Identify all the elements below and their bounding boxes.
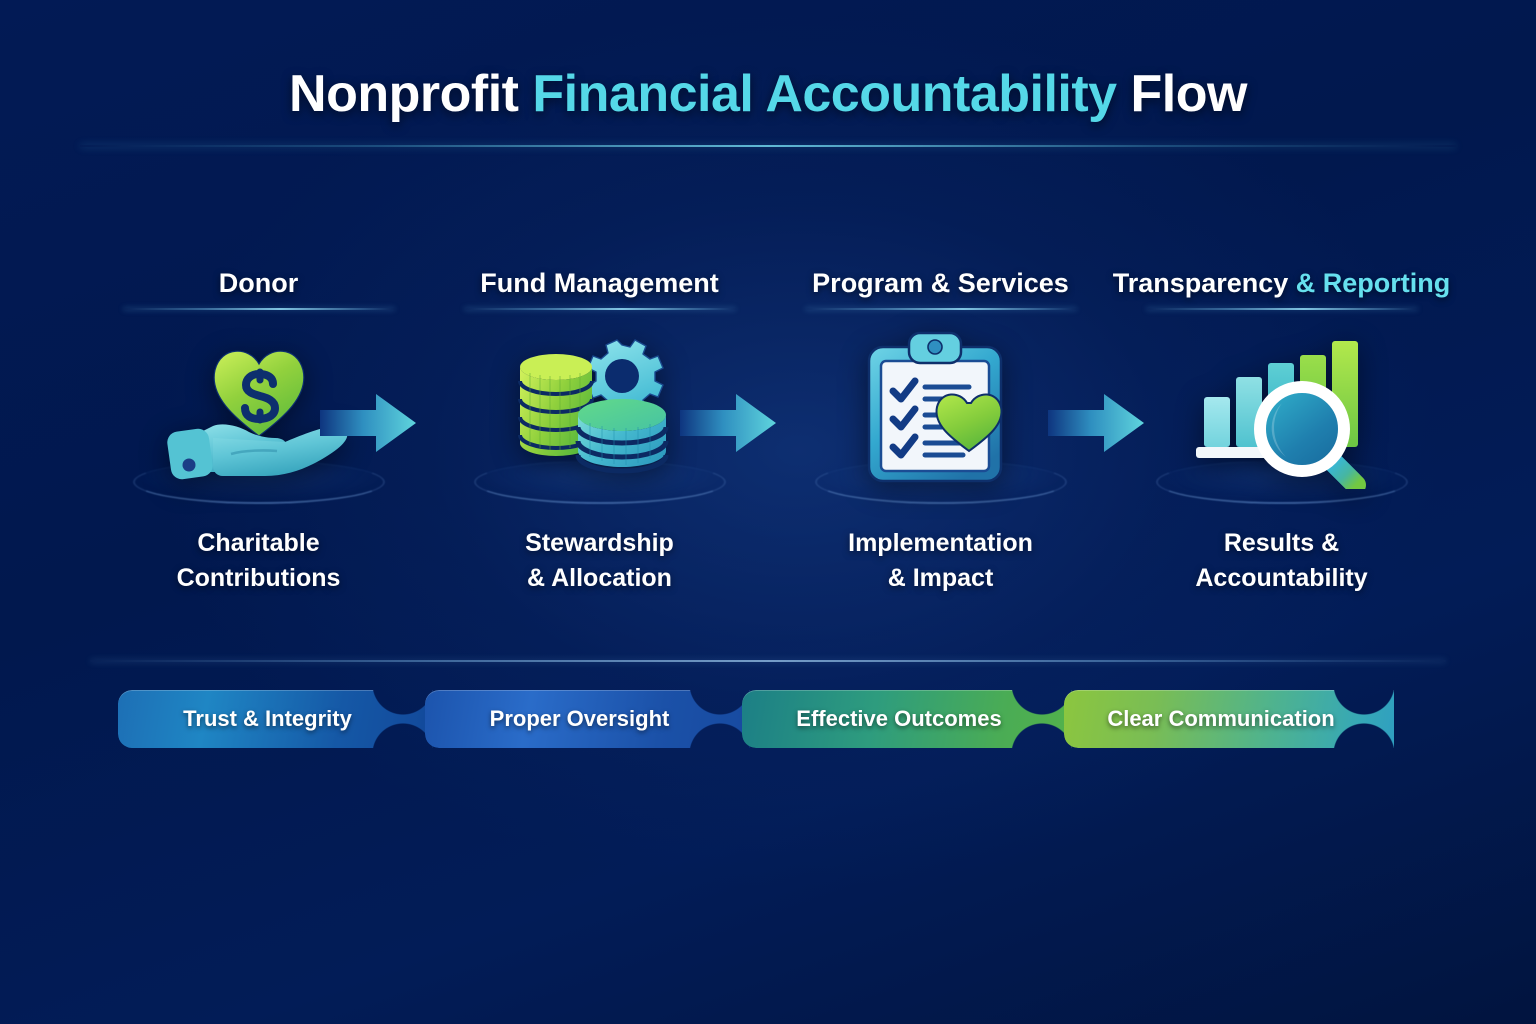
step-heading-donor: Donor <box>219 260 298 306</box>
bar-chart-magnifier-icon <box>1182 331 1382 489</box>
title-segment-three: Flow <box>1131 65 1247 123</box>
badge-label: Proper Oversight <box>480 706 696 732</box>
outcome-badge-row: Trust & Integrity Proper Oversight Effec… <box>118 690 1418 752</box>
arrow-right-icon-2 <box>680 392 776 454</box>
infographic-canvas: Nonprofit Financial Accountability Flow … <box>0 0 1536 1024</box>
title-segment-one: Nonprofit <box>289 65 518 123</box>
badge-clear-communication[interactable]: Clear Communication <box>1064 690 1394 748</box>
clipboard-checklist-heart-icon <box>853 325 1029 495</box>
badges-divider <box>90 660 1446 662</box>
arrow-right-icon-3 <box>1048 392 1144 454</box>
step-heading-transparency-reporting: Transparency & Reporting <box>1113 260 1451 306</box>
step-caption-donor: Charitable Contributions <box>177 526 341 595</box>
badge-effective-outcomes[interactable]: Effective Outcomes <box>742 690 1072 748</box>
step-caption-fund-management: Stewardship & Allocation <box>525 526 674 595</box>
step-heading-fund-management: Fund Management <box>480 260 719 306</box>
badge-label: Trust & Integrity <box>173 706 378 732</box>
badge-trust-integrity[interactable]: Trust & Integrity <box>118 690 433 748</box>
step-heading-program-services: Program & Services <box>812 260 1069 306</box>
flow-step-transparency-reporting[interactable]: Transparency & Reporting <box>1111 260 1452 630</box>
badge-label: Clear Communication <box>1097 706 1360 732</box>
title-divider <box>80 145 1456 147</box>
title-segment-two: Financial Accountability <box>532 65 1116 123</box>
badge-proper-oversight[interactable]: Proper Oversight <box>425 690 750 748</box>
badge-label: Effective Outcomes <box>786 706 1027 732</box>
coin-stacks-gear-icon <box>506 329 694 491</box>
arrow-right-icon-1 <box>320 392 416 454</box>
step-caption-program-services: Implementation & Impact <box>848 526 1033 595</box>
page-title: Nonprofit Financial Accountability Flow <box>0 64 1536 124</box>
step-caption-transparency-reporting: Results & Accountability <box>1195 526 1367 595</box>
icon-zone-transparency-reporting <box>1111 310 1452 510</box>
